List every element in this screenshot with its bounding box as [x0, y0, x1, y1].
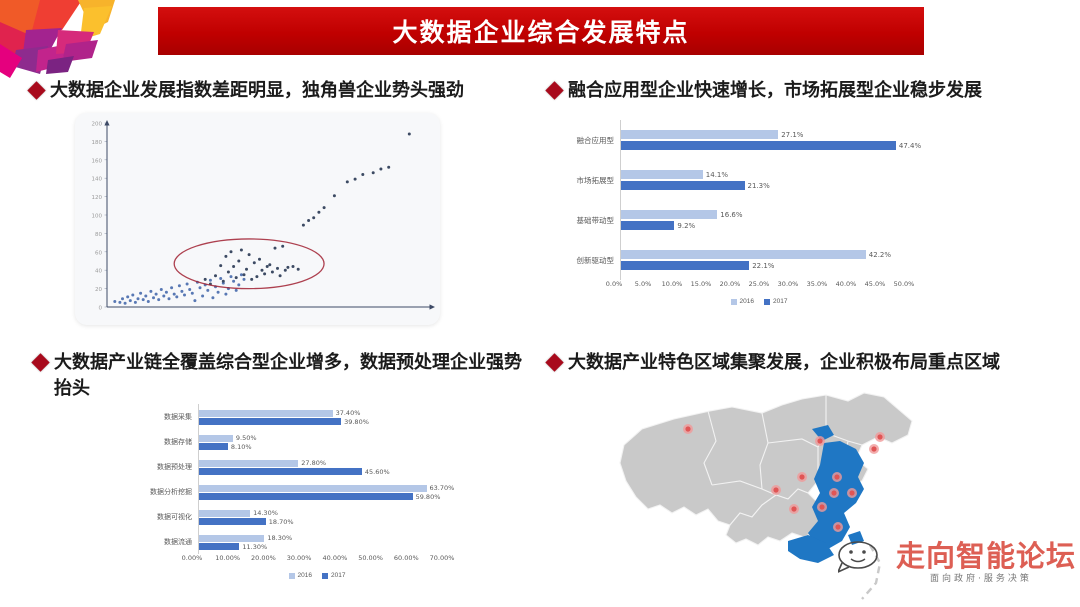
scatter-point: [237, 283, 240, 286]
bar-xtick: 70.00%: [430, 554, 455, 562]
scatter-point: [230, 275, 233, 278]
scatter-ytick: 200: [92, 122, 103, 128]
bar-xtick: 0.00%: [182, 554, 203, 562]
scatter-point: [284, 269, 287, 272]
legend-item-2016: 2016: [731, 298, 754, 305]
bar-2017: [621, 261, 749, 270]
bar-pair: 9.2%: [621, 221, 695, 230]
scatter-point: [253, 261, 256, 264]
scatter-point: [201, 295, 204, 298]
bullet-heading-1: 大数据企业发展指数差距明显，独角兽企业势头强劲: [30, 78, 545, 104]
watermark-title: 走向智能论坛: [896, 533, 1076, 575]
bar-rows: 数据采集37.40%39.80%数据存储9.50%8.10%数据预处理27.80…: [118, 404, 518, 554]
bullet-heading-2: 融合应用型企业快速增长，市场拓展型企业稳步发展: [548, 78, 1058, 104]
bar-xtick: 10.0%: [662, 280, 683, 288]
scatter-point: [261, 269, 264, 272]
bar-2016: [199, 485, 427, 492]
map-marker: [831, 490, 836, 495]
scatter-point: [372, 171, 375, 174]
page-title: 大数据企业综合发展特点: [392, 13, 689, 49]
map-marker: [791, 506, 796, 511]
bar-value-label: 22.1%: [752, 262, 774, 270]
bar-2017: [199, 543, 239, 550]
scatter-point: [183, 294, 186, 297]
bar-xtick: 30.00%: [287, 554, 312, 562]
bar-value-label: 27.1%: [781, 131, 803, 139]
bar-xtick: 0.0%: [606, 280, 623, 288]
legend-label: 2017: [331, 572, 345, 579]
scatter-point: [387, 166, 390, 169]
scatter-point: [243, 273, 246, 276]
scatter-point: [165, 291, 168, 294]
legend-label: 2016: [298, 572, 312, 579]
bar-xtick: 5.0%: [635, 280, 652, 288]
bar-value-label: 39.80%: [344, 418, 369, 426]
scatter-point: [268, 263, 271, 266]
scatter-point: [258, 258, 261, 261]
bar-row: 创新驱动型42.2%22.1%: [548, 240, 948, 280]
legend-label: 2017: [773, 298, 787, 305]
bar-value-label: 9.2%: [677, 222, 695, 230]
bar-pair: 9.50%: [199, 434, 257, 442]
scatter-point: [193, 299, 196, 302]
scatter-point: [240, 249, 243, 252]
scatter-point: [149, 290, 152, 293]
map-marker: [849, 490, 854, 495]
scatter-point: [144, 295, 147, 298]
decorative-polygons: [0, 0, 115, 85]
bar-category-label: 数据采集: [118, 412, 198, 422]
bar-2016: [621, 210, 717, 219]
bar-xtick: 15.0%: [691, 280, 712, 288]
scatter-point: [237, 260, 240, 263]
scatter-point: [232, 280, 235, 283]
bar-pair: 39.80%: [199, 418, 369, 426]
bullet-text-4: 大数据产业特色区域集聚发展，企业积极布局重点区域: [568, 350, 1000, 376]
scatter-point: [222, 280, 225, 283]
bar-row: 融合应用型27.1%47.4%: [548, 120, 948, 160]
bar-2016: [621, 130, 778, 139]
bullet-heading-3: 大数据产业链全覆盖综合型企业增多，数据预处理企业强势抬头: [34, 350, 539, 402]
scatter-point: [276, 267, 279, 270]
scatter-point: [175, 295, 178, 298]
bar-x-axis: 0.00%10.00%20.00%30.00%40.00%50.00%60.00…: [192, 554, 442, 568]
scatter-point: [263, 272, 266, 275]
scatter-point: [240, 273, 243, 276]
bar-value-label: 21.3%: [748, 182, 770, 190]
scatter-point: [224, 293, 227, 296]
bar-chart-industry-chain: 数据采集37.40%39.80%数据存储9.50%8.10%数据预处理27.80…: [118, 404, 518, 599]
scatter-ytick: 0: [99, 306, 103, 312]
bar-pair: 14.1%: [621, 170, 728, 179]
scatter-point: [274, 247, 277, 250]
bar-value-label: 14.30%: [253, 509, 278, 517]
scatter-point: [199, 286, 202, 289]
scatter-point: [129, 299, 132, 302]
scatter-point: [170, 286, 173, 289]
scatter-point: [219, 264, 222, 267]
bar-value-label: 59.80%: [416, 493, 441, 501]
bar-row: 数据可视化14.30%18.70%: [118, 504, 518, 529]
scatter-point: [113, 300, 116, 303]
legend-item-2017: 2017: [764, 298, 787, 305]
scatter-svg: 020406080100120140160180200: [75, 113, 440, 325]
bar-value-label: 11.30%: [242, 543, 267, 551]
scatter-point: [224, 255, 227, 258]
scatter-point: [235, 276, 238, 279]
bullet-text-1: 大数据企业发展指数差距明显，独角兽企业势头强劲: [50, 78, 464, 104]
scatter-ytick: 60: [95, 250, 102, 256]
bar-2016: [621, 170, 703, 179]
legend-swatch-icon: [289, 573, 295, 579]
scatter-point: [134, 301, 137, 304]
bar-pair: 21.3%: [621, 181, 770, 190]
bar-2016: [199, 410, 333, 417]
bar-category-label: 基础带动型: [548, 215, 620, 226]
legend-label: 2016: [740, 298, 754, 305]
map-marker: [877, 434, 882, 439]
bar-pair: 59.80%: [199, 493, 440, 501]
watermark: 走向智能论坛 面向政府·服务决策: [838, 527, 1078, 605]
scatter-point: [323, 206, 326, 209]
bar-2016: [621, 250, 866, 259]
bar-row: 基础带动型16.6%9.2%: [548, 200, 948, 240]
scatter-point: [204, 278, 207, 281]
scatter-point: [180, 290, 183, 293]
scatter-point: [211, 296, 214, 299]
bar-row: 数据采集37.40%39.80%: [118, 404, 518, 429]
bar-category-label: 市场拓展型: [548, 175, 620, 186]
bar-category-label: 数据可视化: [118, 512, 198, 522]
scatter-point: [147, 300, 150, 303]
bar-value-label: 45.60%: [365, 468, 390, 476]
bar-row: 数据存储9.50%8.10%: [118, 429, 518, 454]
scatter-point: [361, 173, 364, 176]
bar-2017: [621, 141, 896, 150]
legend-swatch-icon: [764, 299, 770, 305]
bar-x-axis: 0.0%5.0%10.0%15.0%20.0%25.0%30.0%35.0%40…: [614, 280, 904, 294]
bar-xtick: 40.00%: [322, 554, 347, 562]
bar-2016: [199, 435, 233, 442]
bar-2016: [199, 535, 264, 542]
scatter-ytick: 120: [92, 195, 103, 201]
scatter-point: [266, 265, 269, 268]
bar-xtick: 10.00%: [215, 554, 240, 562]
scatter-point: [155, 293, 158, 296]
scatter-point: [235, 289, 238, 292]
bar-row: 数据分析挖掘63.70%59.80%: [118, 479, 518, 504]
bar-value-label: 63.70%: [430, 484, 455, 492]
scatter-point: [255, 275, 258, 278]
bar-pair: 18.30%: [199, 534, 292, 542]
bar-pair: 8.10%: [199, 443, 252, 451]
bar-category-label: 创新驱动型: [548, 255, 620, 266]
bar-xtick: 35.0%: [807, 280, 828, 288]
scatter-point: [271, 271, 274, 274]
scatter-ytick: 100: [92, 214, 103, 220]
bar-pair: 27.80%: [199, 459, 326, 467]
bar-category-label: 数据流通: [118, 537, 198, 547]
scatter-point: [279, 274, 282, 277]
scatter-ytick: 160: [92, 158, 103, 164]
bar-2017: [199, 518, 266, 525]
scatter-point: [292, 265, 295, 268]
bar-2017: [199, 418, 341, 425]
bar-row: 市场拓展型14.1%21.3%: [548, 160, 948, 200]
bar-category-label: 数据分析挖掘: [118, 487, 198, 497]
diamond-bullet-icon: [545, 353, 563, 371]
scatter-point: [346, 180, 349, 183]
scatter-point: [286, 266, 289, 269]
highlight-ellipse: [174, 239, 324, 289]
wechat-logo-icon: [838, 539, 890, 578]
bar-row: 数据预处理27.80%45.60%: [118, 454, 518, 479]
bar-2016: [199, 510, 250, 517]
scatter-chart-development-index: 020406080100120140160180200: [75, 113, 440, 325]
bar-row: 数据流通18.30%11.30%: [118, 529, 518, 554]
scatter-point: [408, 133, 411, 136]
bar-2016: [199, 460, 298, 467]
scatter-point: [379, 168, 382, 171]
bar-legend: 20162017: [192, 572, 442, 579]
scatter-ytick: 80: [95, 232, 102, 238]
bar-value-label: 8.10%: [231, 443, 252, 451]
bar-value-label: 9.50%: [236, 434, 257, 442]
diamond-bullet-icon: [545, 81, 563, 99]
map-marker: [819, 504, 824, 509]
bar-value-label: 47.4%: [899, 142, 921, 150]
scatter-point: [206, 289, 209, 292]
map-marker: [871, 446, 876, 451]
legend-swatch-icon: [322, 573, 328, 579]
bar-xtick: 30.0%: [778, 280, 799, 288]
bar-2017: [199, 468, 362, 475]
bar-value-label: 37.40%: [336, 409, 361, 417]
bar-value-label: 16.6%: [720, 211, 742, 219]
bar-pair: 11.30%: [199, 543, 267, 551]
bar-legend: 20162017: [614, 298, 904, 305]
scatter-point: [157, 298, 160, 301]
map-marker: [817, 438, 822, 443]
scatter-point: [243, 278, 246, 281]
scatter-ytick: 140: [92, 177, 103, 183]
bar-pair: 45.60%: [199, 468, 390, 476]
scatter-point: [126, 295, 129, 298]
scatter-point: [121, 297, 124, 300]
bar-xtick: 40.0%: [836, 280, 857, 288]
scatter-ytick: 40: [95, 269, 102, 275]
bar-rows: 融合应用型27.1%47.4%市场拓展型14.1%21.3%基础带动型16.6%…: [548, 120, 948, 280]
scatter-point: [209, 279, 212, 282]
legend-swatch-icon: [731, 299, 737, 305]
scatter-point: [230, 250, 233, 253]
bar-pair: 27.1%: [621, 130, 803, 139]
scatter-point: [173, 293, 176, 296]
scatter-point: [232, 265, 235, 268]
bar-category-label: 数据预处理: [118, 462, 198, 472]
bar-value-label: 27.80%: [301, 459, 326, 467]
bullet-text-3: 大数据产业链全覆盖综合型企业增多，数据预处理企业强势抬头: [54, 350, 539, 402]
bullet-text-2: 融合应用型企业快速增长，市场拓展型企业稳步发展: [568, 78, 982, 104]
bar-value-label: 18.70%: [269, 518, 294, 526]
bar-pair: 14.30%: [199, 509, 278, 517]
bar-xtick: 20.0%: [720, 280, 741, 288]
bar-pair: 42.2%: [621, 250, 891, 259]
title-banner: 大数据企业综合发展特点: [158, 7, 924, 55]
scatter-point: [333, 194, 336, 197]
bar-pair: 63.70%: [199, 484, 454, 492]
scatter-point: [191, 292, 194, 295]
map-marker: [685, 426, 690, 431]
scatter-point: [217, 291, 220, 294]
bar-xtick: 60.00%: [394, 554, 419, 562]
scatter-point: [302, 224, 305, 227]
bar-2017: [621, 181, 745, 190]
scatter-point: [178, 284, 181, 287]
scatter-point: [219, 277, 222, 280]
scatter-point: [118, 301, 121, 304]
scatter-point: [168, 297, 171, 300]
scatter-point: [281, 245, 284, 248]
scatter-point: [250, 278, 253, 281]
bar-xtick: 25.0%: [749, 280, 770, 288]
scatter-point: [160, 288, 163, 291]
scatter-point: [188, 288, 191, 291]
bar-2017: [199, 443, 228, 450]
scatter-point: [354, 178, 357, 181]
bar-xtick: 50.00%: [358, 554, 383, 562]
scatter-point: [248, 253, 251, 256]
legend-item-2016: 2016: [289, 572, 312, 579]
scatter-point: [312, 216, 315, 219]
map-marker: [799, 474, 804, 479]
scatter-point: [124, 302, 127, 305]
bar-pair: 47.4%: [621, 141, 921, 150]
bar-pair: 16.6%: [621, 210, 743, 219]
bar-xtick: 50.0%: [894, 280, 915, 288]
scatter-ytick: 20: [95, 287, 102, 293]
scatter-point: [214, 274, 217, 277]
diamond-bullet-icon: [31, 353, 49, 371]
scatter-point: [186, 283, 189, 286]
scatter-point: [152, 296, 155, 299]
bar-xtick: 20.00%: [251, 554, 276, 562]
map-marker: [773, 487, 778, 492]
scatter-point: [162, 295, 165, 298]
diamond-bullet-icon: [27, 81, 45, 99]
scatter-point: [139, 292, 142, 295]
scatter-point: [131, 294, 134, 297]
bar-xtick: 45.0%: [865, 280, 886, 288]
scatter-point: [245, 268, 248, 271]
legend-item-2017: 2017: [322, 572, 345, 579]
bar-value-label: 42.2%: [869, 251, 891, 259]
bar-value-label: 18.30%: [267, 534, 292, 542]
bar-2017: [621, 221, 674, 230]
bar-pair: 22.1%: [621, 261, 774, 270]
bar-value-label: 14.1%: [706, 171, 728, 179]
bar-category-label: 融合应用型: [548, 135, 620, 146]
scatter-point: [307, 219, 310, 222]
slide-canvas: 大数据企业综合发展特点 大数据企业发展指数差距明显，独角兽企业势头强劲 融合应用…: [0, 0, 1080, 607]
scatter-ytick: 180: [92, 140, 103, 146]
bullet-heading-4: 大数据产业特色区域集聚发展，企业积极布局重点区域: [548, 350, 1068, 376]
watermark-subtitle: 面向政府·服务决策: [930, 571, 1032, 584]
scatter-point: [297, 268, 300, 271]
bar-pair: 18.70%: [199, 518, 294, 526]
map-marker: [834, 474, 839, 479]
scatter-point: [137, 297, 140, 300]
scatter-point: [317, 211, 320, 214]
bar-2017: [199, 493, 413, 500]
bar-category-label: 数据存储: [118, 437, 198, 447]
scatter-point: [227, 271, 230, 274]
bar-chart-enterprise-types: 融合应用型27.1%47.4%市场拓展型14.1%21.3%基础带动型16.6%…: [548, 120, 948, 320]
scatter-point: [142, 298, 145, 301]
bar-pair: 37.40%: [199, 409, 360, 417]
